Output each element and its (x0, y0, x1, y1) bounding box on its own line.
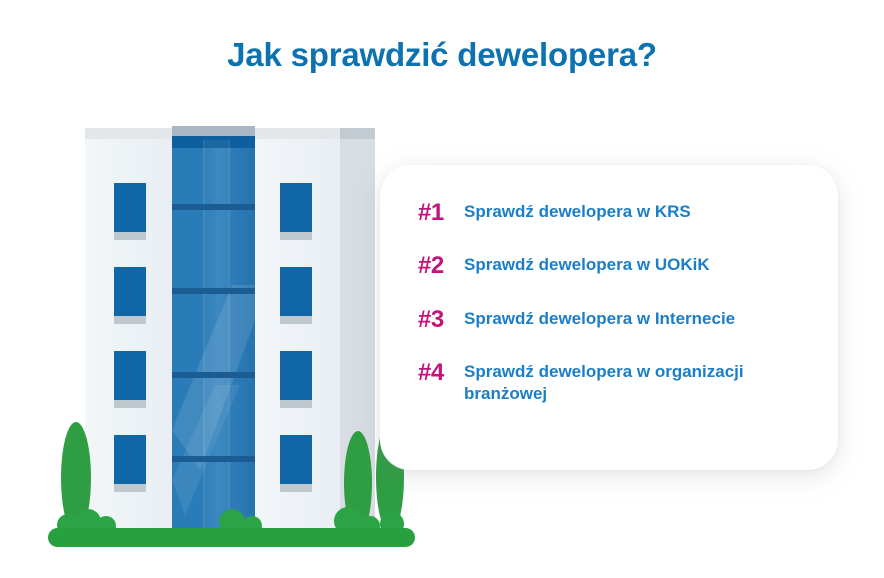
list-item-number: #4 (418, 359, 464, 387)
list-item-label: Sprawdź dewelopera w Internecie (464, 306, 822, 330)
roof-cap-right (255, 128, 340, 139)
list-item[interactable]: #2 Sprawdź dewelopera w UOKiK (418, 252, 822, 280)
roof-cap-tower (172, 126, 255, 136)
window (114, 267, 146, 324)
roof-cap-left (85, 128, 172, 139)
window (280, 267, 312, 324)
infographic-canvas: Jak sprawdzić dewelopera? (0, 0, 884, 578)
window (280, 435, 312, 492)
window (280, 183, 312, 240)
window (114, 351, 146, 408)
list-item[interactable]: #3 Sprawdź dewelopera w Internecie (418, 306, 822, 334)
window (114, 435, 146, 492)
list-item-number: #2 (418, 252, 464, 280)
list-item[interactable]: #4 Sprawdź dewelopera w organizacji bran… (418, 359, 822, 406)
window (280, 351, 312, 408)
steps-list: #1 Sprawdź dewelopera w KRS #2 Sprawdź d… (418, 199, 822, 406)
list-item-label: Sprawdź dewelopera w KRS (464, 199, 822, 223)
apartment-building-illustration (0, 0, 440, 578)
building-glass-tower (172, 126, 268, 540)
list-item-number: #3 (418, 306, 464, 334)
list-item-number: #1 (418, 199, 464, 227)
window (114, 183, 146, 240)
list-item[interactable]: #1 Sprawdź dewelopera w KRS (418, 199, 822, 227)
list-item-label: Sprawdź dewelopera w organizacji branżow… (464, 359, 822, 406)
steps-card: #1 Sprawdź dewelopera w KRS #2 Sprawdź d… (380, 165, 838, 470)
list-item-label: Sprawdź dewelopera w UOKiK (464, 252, 822, 276)
roof-cap-side (340, 128, 375, 139)
